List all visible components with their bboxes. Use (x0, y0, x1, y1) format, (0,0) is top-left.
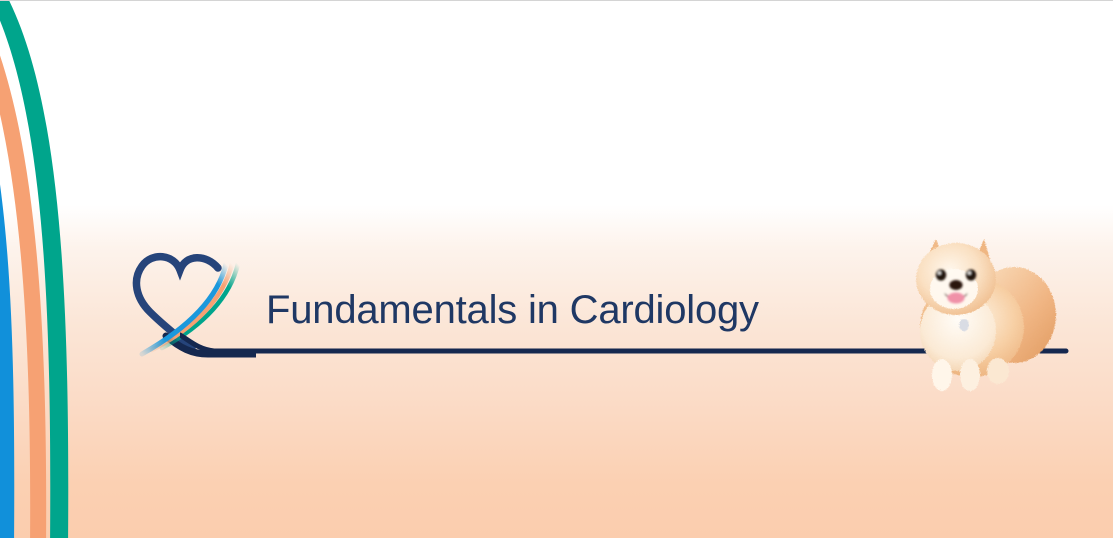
slide-canvas: Fundamentals in Cardiology (0, 0, 1113, 538)
dog-nose (949, 280, 962, 290)
dog-paw-front-right (960, 359, 980, 391)
dog-paw-front-left (932, 359, 952, 391)
dog-eye-right (966, 269, 976, 280)
page-title: Fundamentals in Cardiology (266, 287, 759, 333)
dog-collar-tag (959, 319, 969, 331)
dog-paw-rear (987, 358, 1009, 384)
pomeranian-dog-photo (886, 223, 1061, 395)
dog-eye-right-glint (968, 271, 971, 274)
dog-eye-left-glint (938, 271, 941, 274)
dog-eye-left (936, 269, 946, 280)
dog-tongue (948, 293, 965, 304)
